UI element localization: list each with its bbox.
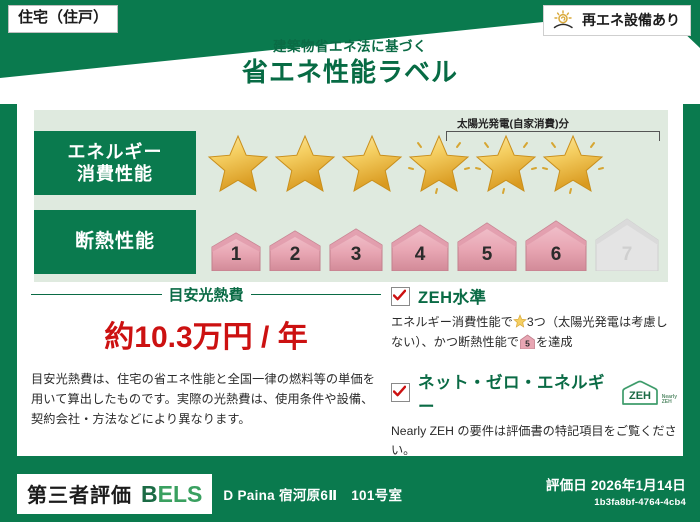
zeh-standard-description: エネルギー消費性能で3つ（太陽光発電は考慮しない）、かつ断熱性能で5を達成 <box>391 313 677 353</box>
title-main: 省エネ性能ラベル <box>0 58 700 88</box>
energy-star-rating <box>196 130 606 196</box>
energy-cost-description: 目安光熱費は、住宅の省エネ性能と全国一律の燃料等の単価を用いて算出したものです。… <box>31 370 381 429</box>
insulation-performance-row: 断熱性能 1 2 3 <box>34 210 662 274</box>
star-filled <box>339 130 405 196</box>
zeh-netzero-title: ネット・ゼロ・エネルギー <box>418 369 612 417</box>
bels-certification-mark: 第三者評価 BELS <box>17 474 212 514</box>
insulation-badge-6: 6 <box>522 216 590 271</box>
category-tag: 住宅（住戸） <box>8 5 118 33</box>
star-filled-solar <box>540 130 606 196</box>
energy-cost-section: 目安光熱費 約10.3万円 / 年 目安光熱費は、住宅の省エネ性能と全国一律の燃… <box>31 284 381 429</box>
insulation-level-badges: 1 2 3 4 5 <box>196 214 662 271</box>
energy-performance-row: エネルギー 消費性能 <box>34 130 606 196</box>
energy-cost-heading: 目安光熱費 <box>31 284 381 305</box>
lower-info-area: 目安光熱費 約10.3万円 / 年 目安光熱費は、住宅の省エネ性能と全国一律の燃… <box>17 284 683 456</box>
performance-panel: 太陽光発電(自家消費)分 エネルギー 消費性能 <box>34 110 668 282</box>
energy-performance-label: エネルギー 消費性能 <box>34 131 196 195</box>
building-name: D Paina 宿河原6Ⅱ 101号室 <box>223 484 402 504</box>
renewable-badge-label: 再エネ設備あり <box>582 10 680 30</box>
rule-right <box>251 294 382 296</box>
zeh-section: ZEH水準 エネルギー消費性能で3つ（太陽光発電は考慮しない）、かつ断熱性能で5… <box>391 284 677 461</box>
zeh-standard-header: ZEH水準 <box>391 284 677 308</box>
rule-left <box>31 294 162 296</box>
star-filled-solar <box>406 130 472 196</box>
star-filled <box>205 130 271 196</box>
evaluation-info: 評価日 2026年1月14日 1b3fa8bf-4764-4cb4 <box>546 474 686 508</box>
bels-en-label: BELS <box>141 481 202 508</box>
zeh-netzero-header: ネット・ゼロ・エネルギー ZEH Nearly ZEH <box>391 369 677 417</box>
checkbox-checked-icon <box>391 383 410 402</box>
title-subtitle: 建築物省エネ法に基づく <box>0 40 700 54</box>
zeh-standard-title: ZEH水準 <box>418 284 487 308</box>
zeh-house-logo-icon: ZEH Nearly ZEH <box>620 380 677 406</box>
solar-generation-note: 太陽光発電(自家消費)分 <box>457 116 569 131</box>
insulation-badge-2: 2 <box>266 225 324 271</box>
checkbox-checked-icon <box>391 287 410 306</box>
energy-performance-label: 住宅（住戸） 再エネ設備あり 建築物省エネ法に基づく 省エネ性能ラベル <box>0 0 700 522</box>
zeh-standard-block: ZEH水準 エネルギー消費性能で3つ（太陽光発電は考慮しない）、かつ断熱性能で5… <box>391 284 677 353</box>
bels-jp-label: 第三者評価 <box>27 479 132 508</box>
star-filled-solar <box>473 130 539 196</box>
evaluation-id: 1b3fa8bf-4764-4cb4 <box>546 497 686 508</box>
insulation-badge-5: 5 <box>454 218 520 271</box>
renewable-equipment-badge: 再エネ設備あり <box>543 5 691 36</box>
sun-icon <box>552 10 576 30</box>
star-filled <box>272 130 338 196</box>
svg-text:5: 5 <box>525 338 530 348</box>
zeh-netzero-description: Nearly ZEH の要件は評価書の特記項目をご覧ください。 <box>391 422 677 462</box>
insulation-badge-1: 1 <box>208 227 264 271</box>
insulation-badge-4: 4 <box>388 220 452 271</box>
evaluation-date: 評価日 2026年1月14日 <box>546 474 686 494</box>
insulation-badge-3: 3 <box>326 223 386 271</box>
insulation-badge-7: 7 <box>592 214 662 271</box>
zeh-logo-subtext: Nearly ZEH <box>662 395 677 406</box>
energy-cost-heading-label: 目安光熱費 <box>169 284 244 305</box>
zeh-netzero-block: ネット・ゼロ・エネルギー ZEH Nearly ZEH <box>391 369 677 462</box>
svg-text:ZEH: ZEH <box>629 390 651 402</box>
energy-cost-value: 約10.3万円 / 年 <box>31 312 381 356</box>
insulation-performance-label: 断熱性能 <box>34 210 196 274</box>
star-icon-inline <box>513 314 527 328</box>
label-title: 建築物省エネ法に基づく 省エネ性能ラベル <box>0 40 700 87</box>
main-card: 太陽光発電(自家消費)分 エネルギー 消費性能 <box>17 104 683 456</box>
house-badge-icon-inline: 5 <box>519 334 536 349</box>
footer: 第三者評価 BELS D Paina 宿河原6Ⅱ 101号室 評価日 2026年… <box>0 466 700 522</box>
